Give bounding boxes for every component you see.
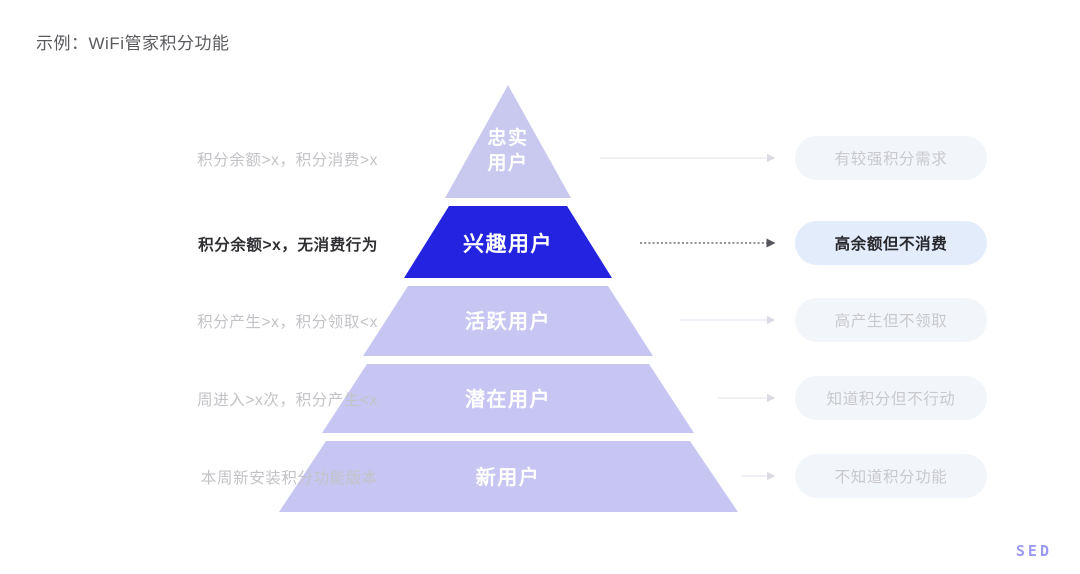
criteria-label-1: 积分余额>x，积分消费>x [197,148,378,170]
criteria-label-4: 周进入>x次，积分产生<x [197,388,378,410]
criteria-label-3: 积分产生>x，积分领取<x [197,310,378,332]
brand-logo: SED [1016,542,1052,560]
pyramid-tier-2[interactable] [404,206,612,278]
insight-pill-2[interactable]: 高余额但不消费 [795,221,987,265]
criteria-label-2: 积分余额>x，无消费行为 [198,233,378,255]
insight-pill-label-3: 高产生但不领取 [835,309,948,331]
slide-canvas: 示例：WiFi管家积分功能 忠实 用户 兴趣用户 活跃用户 潜在用户 新用户 [0,0,1080,574]
insight-pill-5[interactable]: 不知道积分功能 [795,454,987,498]
insight-pill-label-1: 有较强积分需求 [835,147,948,169]
insight-pill-label-2: 高余额但不消费 [835,232,948,254]
criteria-label-5: 本周新安装积分功能版本 [201,466,378,488]
insight-pill-label-5: 不知道积分功能 [835,465,948,487]
insight-pill-label-4: 知道积分但不行动 [827,387,956,409]
insight-pill-4[interactable]: 知道积分但不行动 [795,376,987,420]
pyramid-tier-3[interactable] [363,286,653,356]
pyramid-tier-1[interactable] [445,85,571,198]
insight-pill-1[interactable]: 有较强积分需求 [795,136,987,180]
insight-pill-3[interactable]: 高产生但不领取 [795,298,987,342]
